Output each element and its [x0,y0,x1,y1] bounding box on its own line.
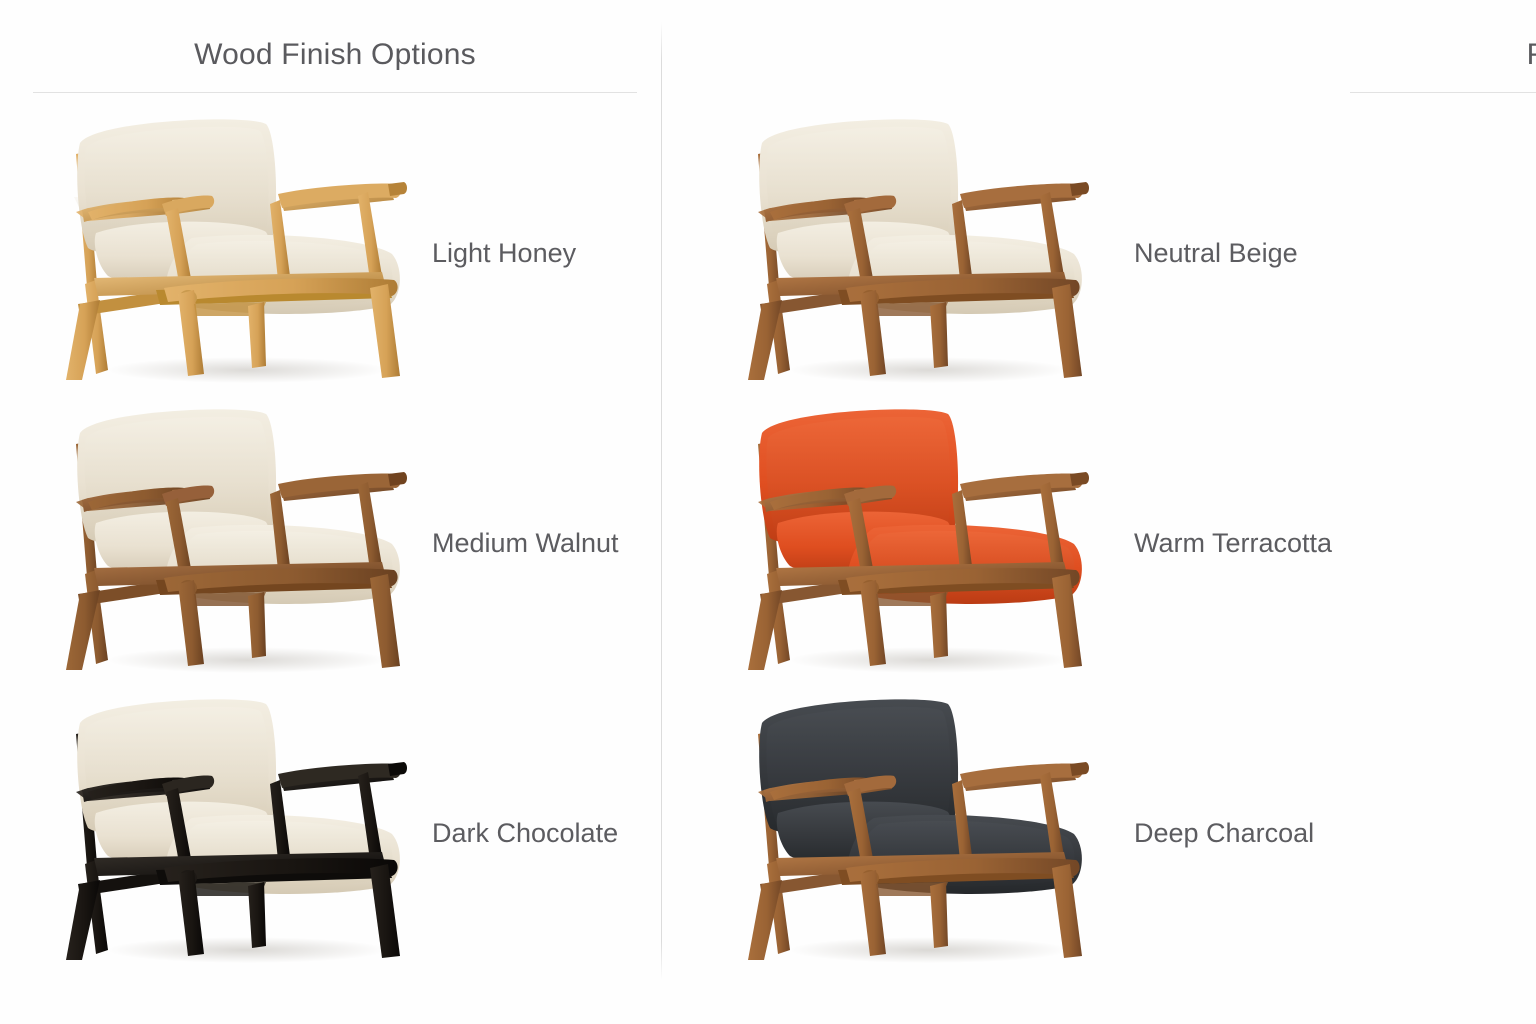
option-label-deep-charcoal: Deep Charcoal [1134,816,1314,850]
page-title-fabric-upholstery: Fabric / Upholstery Options [1350,36,1536,74]
option-row-deep-charcoal[interactable]: Deep Charcoal [734,688,1514,978]
wood-finish-header: Wood Finish Options [33,36,637,93]
chair-image-neutral-beige[interactable] [734,108,1106,398]
option-row-light-honey[interactable]: Light Honey [52,108,652,398]
chair-image-dark-chocolate[interactable] [52,688,424,978]
option-label-light-honey: Light Honey [432,236,576,270]
header-rule-left [33,92,637,93]
page-title-wood-finish: Wood Finish Options [33,36,637,74]
chair-image-light-honey[interactable] [52,108,424,398]
option-label-warm-terracotta: Warm Terracotta [1134,526,1332,560]
fabric-options-header: Fabric / Upholstery Options [1350,36,1536,93]
option-row-dark-chocolate[interactable]: Dark Chocolate [52,688,652,978]
option-label-medium-walnut: Medium Walnut [432,526,619,560]
option-label-dark-chocolate: Dark Chocolate [432,816,618,850]
chair-image-medium-walnut[interactable] [52,398,424,688]
product-options-board: Wood Finish Options [0,0,1536,1024]
panel-fabric-upholstery: Fabric / Upholstery Options [662,0,1536,1024]
option-row-warm-terracotta[interactable]: Warm Terracotta [734,398,1514,688]
option-label-neutral-beige: Neutral Beige [1134,236,1298,270]
header-rule-right [1350,92,1536,93]
option-row-medium-walnut[interactable]: Medium Walnut [52,398,652,688]
option-row-neutral-beige[interactable]: Neutral Beige [734,108,1514,398]
chair-image-warm-terracotta[interactable] [734,398,1106,688]
panel-wood-finish: Wood Finish Options [0,0,662,1024]
chair-image-deep-charcoal[interactable] [734,688,1106,978]
